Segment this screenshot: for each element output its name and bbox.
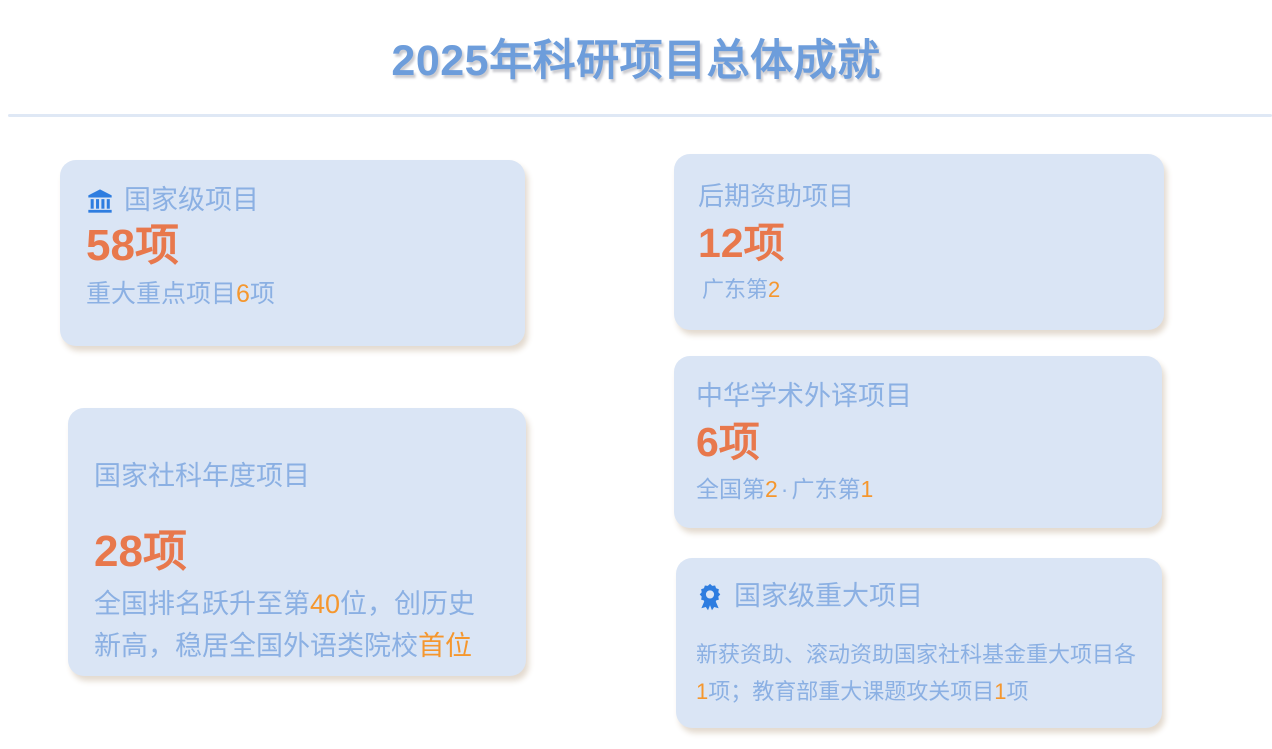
card-header: 中华学术外译项目 (696, 380, 1136, 414)
note-part-1: 全国排名跃升至第 (94, 589, 310, 619)
note-separator: · (778, 476, 792, 502)
card-note: 全国第2·广东第1 (696, 473, 1136, 506)
award-rosette-icon (696, 583, 724, 611)
note-prefix: 广东第 (702, 277, 768, 302)
note-accent: 2 (768, 277, 780, 302)
card-header: 国家级重大项目 (696, 580, 1140, 614)
card-value: 6项 (696, 420, 1136, 465)
note-accent-2: 首位 (418, 631, 472, 661)
card-annual-nssfc-projects[interactable]: 国家社科年度项目 28项 全国排名跃升至第40位，创历史新高，稳居全国外语类院校… (68, 408, 526, 676)
page-title: 2025年科研项目总体成就 (0, 26, 1272, 88)
card-national-major-projects[interactable]: 国家级重大项目 新获资助、滚动资助国家社科基金重大项目各1项；教育部重大课题攻关… (676, 558, 1162, 728)
note-accent-2: 1 (994, 679, 1006, 704)
note-accent-1: 40 (310, 589, 340, 619)
note-part-1: 全国第 (696, 476, 765, 502)
card-value: 58项 (86, 222, 499, 270)
card-note: 广东第2 (698, 274, 1138, 306)
note-accent: 6 (236, 280, 250, 308)
card-note: 重大重点项目6项 (86, 276, 499, 312)
note-part-2: 广东第 (791, 476, 860, 502)
note-accent-1: 1 (696, 679, 708, 704)
card-title: 国家社科年度项目 (94, 460, 310, 494)
card-national-projects[interactable]: 国家级项目 58项 重大重点项目6项 (60, 160, 525, 346)
card-title: 国家级重大项目 (734, 580, 923, 614)
card-note: 新获资助、滚动资助国家社科基金重大项目各1项；教育部重大课题攻关项目1项 (696, 636, 1140, 711)
bank-icon (86, 187, 114, 215)
note-part-3: 项 (1007, 679, 1029, 704)
note-part-1: 新获资助、滚动资助国家社科基金重大项目各 (696, 642, 1136, 667)
card-value: 12项 (698, 221, 1138, 266)
note-prefix: 重大重点项目 (86, 280, 236, 308)
card-title: 后期资助项目 (698, 180, 854, 213)
card-header: 国家级项目 (86, 184, 499, 218)
card-header: 后期资助项目 (698, 180, 1138, 213)
note-accent-2: 1 (860, 476, 873, 502)
note-accent-1: 2 (765, 476, 778, 502)
card-academic-translation-projects[interactable]: 中华学术外译项目 6项 全国第2·广东第1 (674, 356, 1162, 528)
note-part-2: 项；教育部重大课题攻关项目 (708, 679, 994, 704)
header-divider (8, 114, 1272, 117)
card-note: 全国排名跃升至第40位，创历史新高，稳居全国外语类院校首位 (94, 584, 500, 668)
card-header: 国家社科年度项目 (94, 460, 500, 494)
note-suffix: 项 (250, 280, 275, 308)
card-value: 28项 (94, 528, 500, 576)
card-title: 国家级项目 (124, 184, 259, 218)
card-later-funding-projects[interactable]: 后期资助项目 12项 广东第2 (674, 154, 1164, 330)
card-title: 中华学术外译项目 (696, 380, 912, 414)
page-header: 2025年科研项目总体成就 (0, 0, 1272, 116)
